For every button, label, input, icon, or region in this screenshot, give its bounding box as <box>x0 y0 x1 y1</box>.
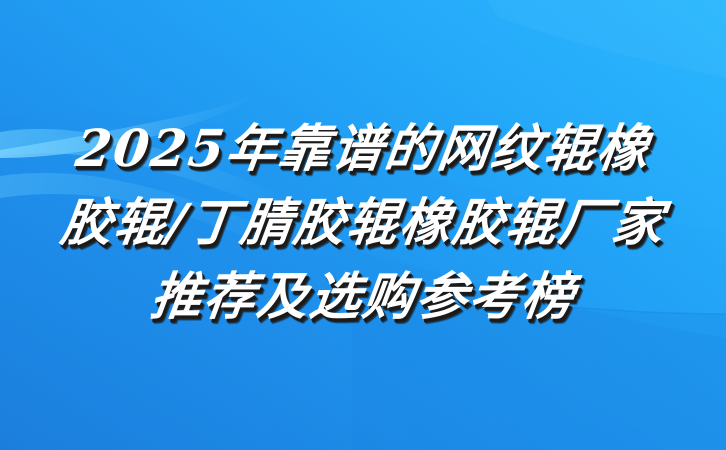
promotional-banner: 2025年靠谱的网纹辊橡 胶辊/丁腈胶辊橡胶辊厂家 推荐及选购参考榜 <box>0 0 726 450</box>
headline-line-2: 胶辊/丁腈胶辊橡胶辊厂家 <box>0 186 726 260</box>
headline-line-1: 2025年靠谱的网纹辊橡 <box>0 112 726 186</box>
wave-sheen-top-right <box>486 0 726 78</box>
headline-line-3: 推荐及选购参考榜 <box>0 260 726 334</box>
headline-text-block: 2025年靠谱的网纹辊橡 胶辊/丁腈胶辊橡胶辊厂家 推荐及选购参考榜 <box>0 112 726 334</box>
